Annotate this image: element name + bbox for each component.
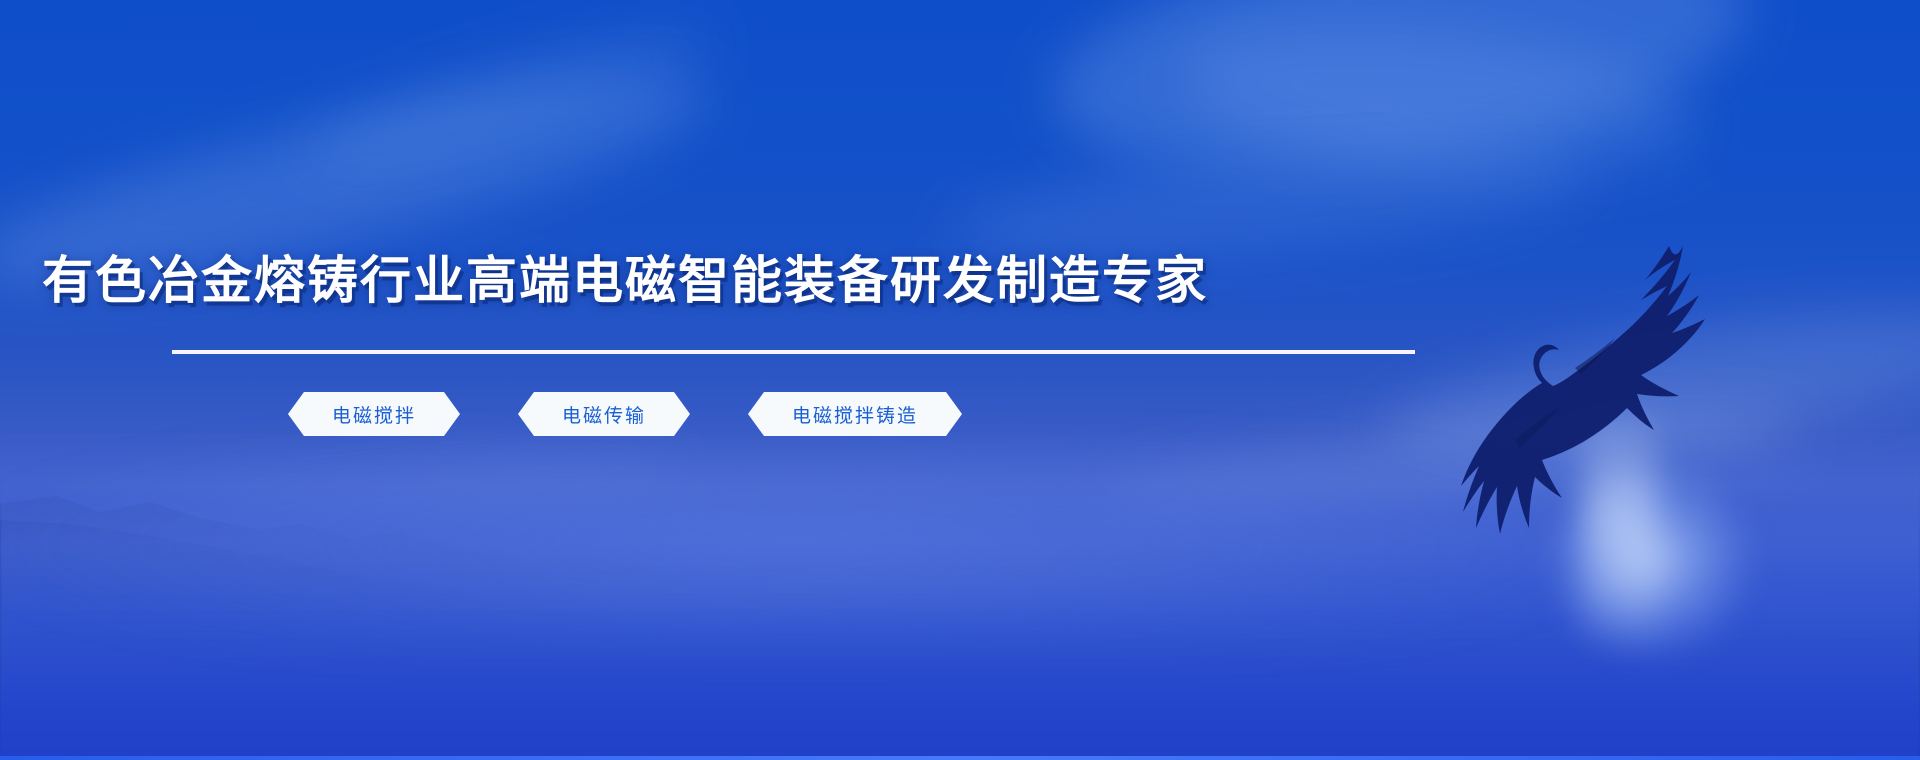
title-divider: [172, 350, 1415, 354]
tag-label: 电磁搅拌铸造: [792, 401, 918, 428]
tag-electromagnetic-stirring[interactable]: 电磁搅拌: [288, 392, 460, 436]
tag-electromagnetic-transport[interactable]: 电磁传输: [518, 392, 690, 436]
hero-banner: 有色冶金熔铸行业高端电磁智能装备研发制造专家 电磁搅拌 电磁传输 电磁搅拌铸造: [0, 0, 1920, 760]
tag-electromagnetic-stirring-casting[interactable]: 电磁搅拌铸造: [748, 392, 962, 436]
tag-label: 电磁搅拌: [332, 401, 416, 428]
banner-content: 有色冶金熔铸行业高端电磁智能装备研发制造专家 电磁搅拌 电磁传输 电磁搅拌铸造: [0, 0, 1250, 760]
bottom-edge-highlight: [0, 756, 1920, 760]
page-title: 有色冶金熔铸行业高端电磁智能装备研发制造专家: [0, 253, 1250, 309]
tag-list: 电磁搅拌 电磁传输 电磁搅拌铸造: [0, 392, 1250, 436]
tag-label: 电磁传输: [562, 401, 646, 428]
